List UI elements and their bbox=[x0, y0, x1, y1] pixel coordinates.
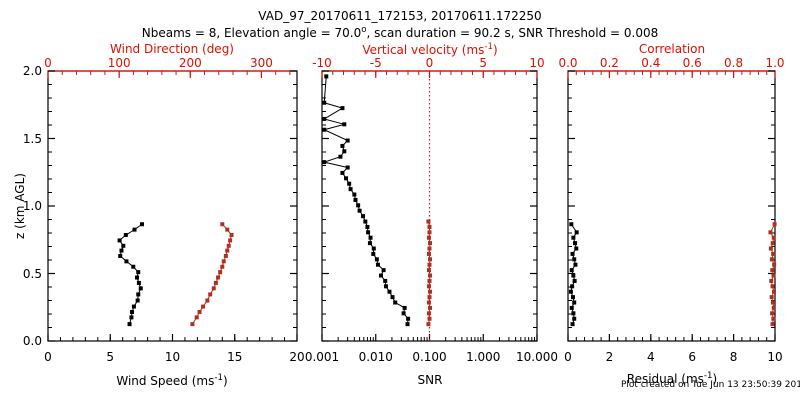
panel2-xtick-label: 0.010 bbox=[359, 351, 393, 363]
data-point-correlation bbox=[770, 268, 774, 272]
data-point-vertical-velocity bbox=[428, 241, 432, 245]
data-point-snr bbox=[346, 166, 350, 170]
data-point-vertical-velocity bbox=[427, 301, 431, 305]
data-point-snr bbox=[342, 149, 346, 153]
data-point-snr bbox=[356, 203, 360, 207]
data-point-wind-speed bbox=[136, 270, 140, 274]
data-point-wind-direction bbox=[227, 244, 231, 248]
data-point-correlation bbox=[772, 236, 776, 240]
panel3-top-xtick-label: 0.2 bbox=[600, 57, 619, 69]
data-point-vertical-velocity bbox=[428, 317, 432, 321]
data-point-wind-direction bbox=[224, 254, 228, 258]
data-point-wind-direction bbox=[212, 286, 216, 290]
panel3-top-xtick-label: 0.4 bbox=[641, 57, 660, 69]
data-point-snr bbox=[382, 268, 386, 272]
data-point-snr bbox=[366, 230, 370, 234]
data-point-correlation bbox=[770, 311, 774, 315]
data-point-residual bbox=[573, 263, 577, 267]
data-point-snr bbox=[406, 322, 410, 326]
data-point-wind-direction bbox=[218, 270, 222, 274]
y-axis-tick-label: 1.0 bbox=[23, 200, 42, 212]
panel1-xtick-label: 5 bbox=[106, 351, 114, 363]
data-point-wind-speed bbox=[130, 310, 134, 314]
data-point-snr bbox=[344, 176, 348, 180]
data-point-wind-speed bbox=[119, 249, 123, 253]
data-point-correlation bbox=[773, 222, 777, 226]
data-point-residual bbox=[573, 279, 577, 283]
panel3-xtick-label: 8 bbox=[730, 351, 738, 363]
data-point-residual bbox=[571, 236, 575, 240]
data-point-snr bbox=[391, 295, 395, 299]
y-axis-tick-label: 1.5 bbox=[23, 133, 42, 145]
data-point-snr bbox=[383, 279, 387, 283]
y-axis-tick-label: 0.0 bbox=[23, 335, 42, 347]
panel1-xtick-label: 0 bbox=[44, 351, 52, 363]
data-point-vertical-velocity bbox=[427, 252, 431, 256]
data-point-correlation bbox=[771, 252, 775, 256]
data-point-residual bbox=[569, 222, 573, 226]
data-point-correlation bbox=[771, 322, 775, 326]
panel3-xtick-label: 6 bbox=[688, 351, 696, 363]
data-point-residual bbox=[573, 241, 577, 245]
data-point-wind-speed bbox=[121, 244, 125, 248]
data-point-vertical-velocity bbox=[427, 284, 431, 288]
data-point-residual bbox=[575, 230, 579, 234]
panel1-top-xtick-label: 0 bbox=[44, 57, 52, 69]
data-point-correlation bbox=[772, 306, 776, 310]
data-point-vertical-velocity bbox=[428, 295, 432, 299]
data-point-wind-direction bbox=[208, 292, 212, 296]
data-point-residual bbox=[571, 295, 575, 299]
data-point-correlation bbox=[769, 279, 773, 283]
data-point-wind-direction bbox=[190, 322, 194, 326]
data-point-wind-speed bbox=[133, 228, 137, 232]
data-point-snr bbox=[340, 144, 344, 148]
data-point-correlation bbox=[769, 247, 773, 251]
panel2-top-xtick-label: 0 bbox=[426, 57, 434, 69]
panel2-top-xtick-label: 10 bbox=[529, 57, 544, 69]
panel3-top-xtick-label: 0.6 bbox=[683, 57, 702, 69]
data-point-vertical-velocity bbox=[428, 225, 432, 229]
data-point-snr bbox=[347, 182, 351, 186]
data-point-wind-speed bbox=[124, 233, 128, 237]
data-point-wind-speed bbox=[118, 238, 122, 242]
data-point-wind-direction bbox=[220, 265, 224, 269]
panel2-top-xtick-label: -5 bbox=[370, 57, 382, 69]
data-point-wind-direction bbox=[230, 233, 234, 237]
data-point-wind-direction bbox=[214, 281, 218, 285]
data-point-snr bbox=[387, 290, 391, 294]
data-point-snr bbox=[371, 252, 375, 256]
data-point-vertical-velocity bbox=[428, 279, 432, 283]
data-point-snr bbox=[384, 284, 388, 288]
panel2-top-xtick-label: -10 bbox=[312, 57, 332, 69]
data-point-snr bbox=[352, 193, 356, 197]
panel3-xtick-label: 2 bbox=[606, 351, 614, 363]
data-point-correlation bbox=[772, 274, 776, 278]
data-point-correlation bbox=[772, 263, 776, 267]
data-point-vertical-velocity bbox=[428, 306, 432, 310]
data-point-snr bbox=[322, 117, 326, 121]
panel1-xtick-label: 10 bbox=[165, 351, 180, 363]
data-point-vertical-velocity bbox=[428, 263, 432, 267]
data-point-wind-speed bbox=[118, 254, 122, 258]
data-point-snr bbox=[340, 171, 344, 175]
data-point-wind-speed bbox=[139, 286, 143, 290]
data-point-residual bbox=[571, 311, 575, 315]
data-point-wind-speed bbox=[140, 222, 144, 226]
plot-canvas: VAD_97_20170611_172153, 20170611.172250 … bbox=[0, 0, 800, 400]
data-point-snr bbox=[363, 220, 367, 224]
data-point-wind-direction bbox=[228, 238, 232, 242]
data-point-residual bbox=[570, 284, 574, 288]
data-point-residual bbox=[570, 306, 574, 310]
panel3-xtick-label: 4 bbox=[647, 351, 655, 363]
data-point-residual bbox=[571, 252, 575, 256]
data-point-correlation bbox=[771, 241, 775, 245]
data-point-snr bbox=[322, 101, 326, 105]
data-point-correlation bbox=[771, 301, 775, 305]
data-point-residual bbox=[574, 247, 578, 251]
data-point-snr bbox=[354, 198, 358, 202]
panel2-xtick-label: 0.001 bbox=[305, 351, 339, 363]
data-point-residual bbox=[571, 274, 575, 278]
data-point-snr bbox=[349, 187, 353, 191]
data-point-wind-direction bbox=[201, 305, 205, 309]
data-point-vertical-velocity bbox=[428, 257, 432, 261]
data-point-residual bbox=[572, 301, 576, 305]
data-point-vertical-velocity bbox=[428, 247, 432, 251]
data-point-correlation bbox=[771, 284, 775, 288]
data-point-snr bbox=[379, 274, 383, 278]
data-point-wind-direction bbox=[198, 310, 202, 314]
data-point-vertical-velocity bbox=[428, 230, 432, 234]
data-point-correlation bbox=[768, 230, 772, 234]
data-point-snr bbox=[368, 241, 372, 245]
data-point-snr bbox=[358, 209, 362, 213]
series-line-wind-speed bbox=[120, 224, 142, 324]
data-point-residual bbox=[570, 268, 574, 272]
data-point-wind-direction bbox=[220, 222, 224, 226]
panel2-xtick-label: 0.100 bbox=[412, 351, 446, 363]
data-point-wind-speed bbox=[131, 265, 135, 269]
panel1-top-xtick-label: 100 bbox=[108, 57, 131, 69]
panel1-top-xtick-label: 300 bbox=[250, 57, 273, 69]
data-point-snr bbox=[403, 306, 407, 310]
panel3-xtick-label: 10 bbox=[767, 351, 782, 363]
data-point-wind-speed bbox=[136, 292, 140, 296]
series-line-wind-direction bbox=[192, 224, 231, 324]
data-point-residual bbox=[572, 317, 576, 321]
data-point-snr bbox=[393, 301, 397, 305]
data-point-snr bbox=[365, 225, 369, 229]
panel3-top-xtick-label: 1.0 bbox=[765, 57, 784, 69]
data-point-residual bbox=[569, 290, 573, 294]
data-point-snr bbox=[369, 236, 373, 240]
panel1-top-xtick-label: 200 bbox=[179, 57, 202, 69]
data-point-vertical-velocity bbox=[428, 290, 432, 294]
data-point-snr bbox=[324, 74, 328, 78]
panel1-xtick-label: 20 bbox=[289, 351, 304, 363]
data-point-wind-speed bbox=[137, 281, 141, 285]
data-point-vertical-velocity bbox=[427, 268, 431, 272]
panel2-xtick-label: 1.000 bbox=[466, 351, 500, 363]
data-point-wind-direction bbox=[216, 276, 220, 280]
y-axis-tick-label: 0.5 bbox=[23, 268, 42, 280]
y-axis-tick-label: 2.0 bbox=[23, 65, 42, 77]
data-point-vertical-velocity bbox=[427, 236, 431, 240]
panel2-top-xtick-label: 5 bbox=[479, 57, 487, 69]
data-point-wind-speed bbox=[129, 315, 133, 319]
data-point-snr bbox=[338, 155, 342, 159]
data-point-wind-speed bbox=[132, 305, 136, 309]
data-point-residual bbox=[572, 257, 576, 261]
data-point-vertical-velocity bbox=[426, 220, 430, 224]
data-point-snr bbox=[406, 317, 410, 321]
panel3-top-xtick-label: 0.0 bbox=[558, 57, 577, 69]
data-point-wind-speed bbox=[128, 322, 132, 326]
data-point-vertical-velocity bbox=[427, 311, 431, 315]
panel3-top-xtick-label: 0.8 bbox=[724, 57, 743, 69]
data-point-snr bbox=[342, 122, 346, 126]
data-point-snr bbox=[361, 214, 365, 218]
panel3-frame bbox=[568, 71, 775, 341]
data-point-correlation bbox=[770, 295, 774, 299]
data-point-snr bbox=[402, 311, 406, 315]
data-point-snr bbox=[376, 263, 380, 267]
data-point-snr bbox=[375, 257, 379, 261]
data-point-correlation bbox=[772, 290, 776, 294]
data-point-snr bbox=[372, 247, 376, 251]
data-point-wind-speed bbox=[135, 276, 139, 280]
data-point-snr bbox=[322, 128, 326, 132]
data-point-wind-direction bbox=[225, 228, 229, 232]
data-point-wind-speed bbox=[136, 299, 140, 303]
data-point-snr bbox=[322, 160, 326, 164]
data-point-wind-speed bbox=[124, 259, 128, 263]
data-point-correlation bbox=[770, 257, 774, 261]
data-point-snr bbox=[340, 106, 344, 110]
data-point-vertical-velocity bbox=[426, 322, 430, 326]
data-point-snr bbox=[346, 139, 350, 143]
series-line-snr bbox=[324, 76, 408, 324]
data-point-vertical-velocity bbox=[428, 274, 432, 278]
data-point-wind-direction bbox=[195, 315, 199, 319]
data-point-wind-direction bbox=[205, 299, 209, 303]
data-point-residual bbox=[571, 322, 575, 326]
data-point-wind-direction bbox=[222, 259, 226, 263]
data-point-wind-direction bbox=[225, 249, 229, 253]
data-point-correlation bbox=[771, 317, 775, 321]
panel1-xtick-label: 15 bbox=[227, 351, 242, 363]
panel2-xtick-label: 10.000 bbox=[516, 351, 558, 363]
panel3-xtick-label: 0 bbox=[564, 351, 572, 363]
panel1-frame bbox=[48, 71, 297, 341]
